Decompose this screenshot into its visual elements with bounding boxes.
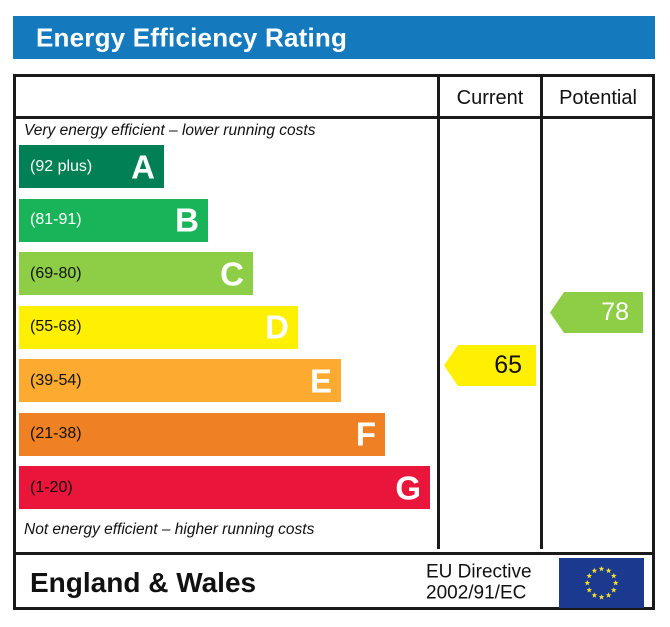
chart-frame: Current Potential Very energy efficient … — [13, 74, 655, 610]
column-divider-current — [437, 77, 440, 549]
band-range-a: (92 plus) — [30, 158, 92, 176]
band-letter-a: A — [131, 150, 155, 183]
footer-row: England & Wales EU Directive 2002/91/EC — [16, 552, 652, 610]
band-bar-a: (92 plus)A — [19, 145, 164, 188]
band-range-e: (39-54) — [30, 372, 82, 390]
band-bar-c: (69-80)C — [19, 252, 253, 295]
title-banner: Energy Efficiency Rating — [13, 16, 655, 59]
caption-not-efficient: Not energy efficient – higher running co… — [24, 521, 314, 539]
band-bar-e: (39-54)E — [19, 359, 341, 402]
rating-arrow-potential: 78 — [550, 292, 643, 333]
band-letter-d: D — [265, 311, 289, 344]
band-range-f: (21-38) — [30, 425, 82, 443]
band-letter-b: B — [175, 204, 199, 237]
column-divider-potential — [540, 77, 543, 549]
eu-directive-line-2: 2002/91/EC — [426, 583, 532, 604]
band-bar-f: (21-38)F — [19, 413, 385, 456]
energy-efficiency-certificate: Energy Efficiency Rating Current Potenti… — [0, 0, 670, 627]
band-bar-g: (1-20)G — [19, 466, 430, 509]
band-letter-c: C — [220, 257, 244, 290]
eu-directive-label: EU Directive 2002/91/EC — [426, 561, 532, 604]
band-bars-area: Very energy efficient – lower running co… — [16, 119, 434, 549]
band-range-c: (69-80) — [30, 265, 82, 283]
page-title: Energy Efficiency Rating — [36, 22, 347, 53]
band-bar-b: (81-91)B — [19, 199, 208, 242]
rating-arrow-current: 65 — [444, 345, 536, 386]
band-range-d: (55-68) — [30, 318, 82, 336]
column-header-current: Current — [440, 77, 540, 119]
eu-directive-line-1: EU Directive — [426, 561, 532, 582]
band-range-g: (1-20) — [30, 479, 73, 497]
caption-very-efficient: Very energy efficient – lower running co… — [24, 122, 316, 140]
band-letter-g: G — [395, 471, 421, 504]
band-range-b: (81-91) — [30, 211, 82, 229]
band-letter-e: E — [310, 364, 332, 397]
eu-flag-icon — [559, 558, 644, 608]
band-letter-f: F — [356, 418, 376, 451]
region-label: England & Wales — [30, 567, 256, 599]
column-header-potential: Potential — [543, 77, 653, 119]
band-bar-d: (55-68)D — [19, 306, 298, 349]
